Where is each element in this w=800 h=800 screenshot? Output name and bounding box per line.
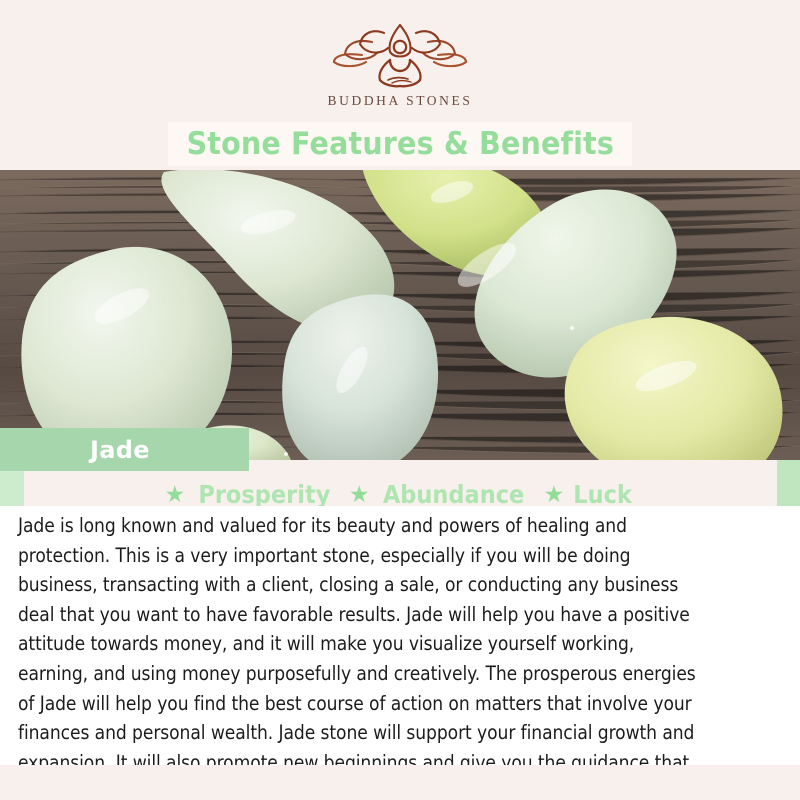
lotus-meditation-icon bbox=[332, 22, 468, 88]
benefit-item: ★ Abundance bbox=[349, 480, 533, 509]
benefit-item: ★ Luck bbox=[544, 480, 636, 509]
brand-logo: BUDDHA STONES bbox=[0, 22, 800, 109]
stone-name: Jade bbox=[90, 436, 150, 464]
title-band: Stone Features & Benefits bbox=[168, 122, 632, 166]
star-icon: ★ bbox=[165, 483, 186, 506]
brand-name: BUDDHA STONES bbox=[328, 93, 473, 109]
benefit-label: Prosperity bbox=[198, 480, 330, 509]
stone-photo bbox=[0, 170, 800, 460]
benefit-label: Abundance bbox=[383, 480, 524, 509]
star-icon: ★ bbox=[349, 483, 370, 506]
header: BUDDHA STONES Stone Features & Benefits bbox=[0, 0, 800, 170]
stone-name-band: Jade bbox=[0, 428, 249, 471]
page-title: Stone Features & Benefits bbox=[186, 126, 613, 162]
benefit-item: ★ Prosperity bbox=[165, 480, 338, 509]
benefit-label: Luck bbox=[574, 480, 633, 509]
infographic-page: BUDDHA STONES Stone Features & Benefits bbox=[0, 0, 800, 800]
bottom-strip bbox=[0, 765, 800, 800]
star-icon: ★ bbox=[544, 483, 565, 506]
description-text: Jade is long known and valued for its be… bbox=[18, 511, 698, 800]
stone-photo-graphic bbox=[0, 170, 800, 460]
description-section: Jade is long known and valued for its be… bbox=[0, 506, 800, 800]
